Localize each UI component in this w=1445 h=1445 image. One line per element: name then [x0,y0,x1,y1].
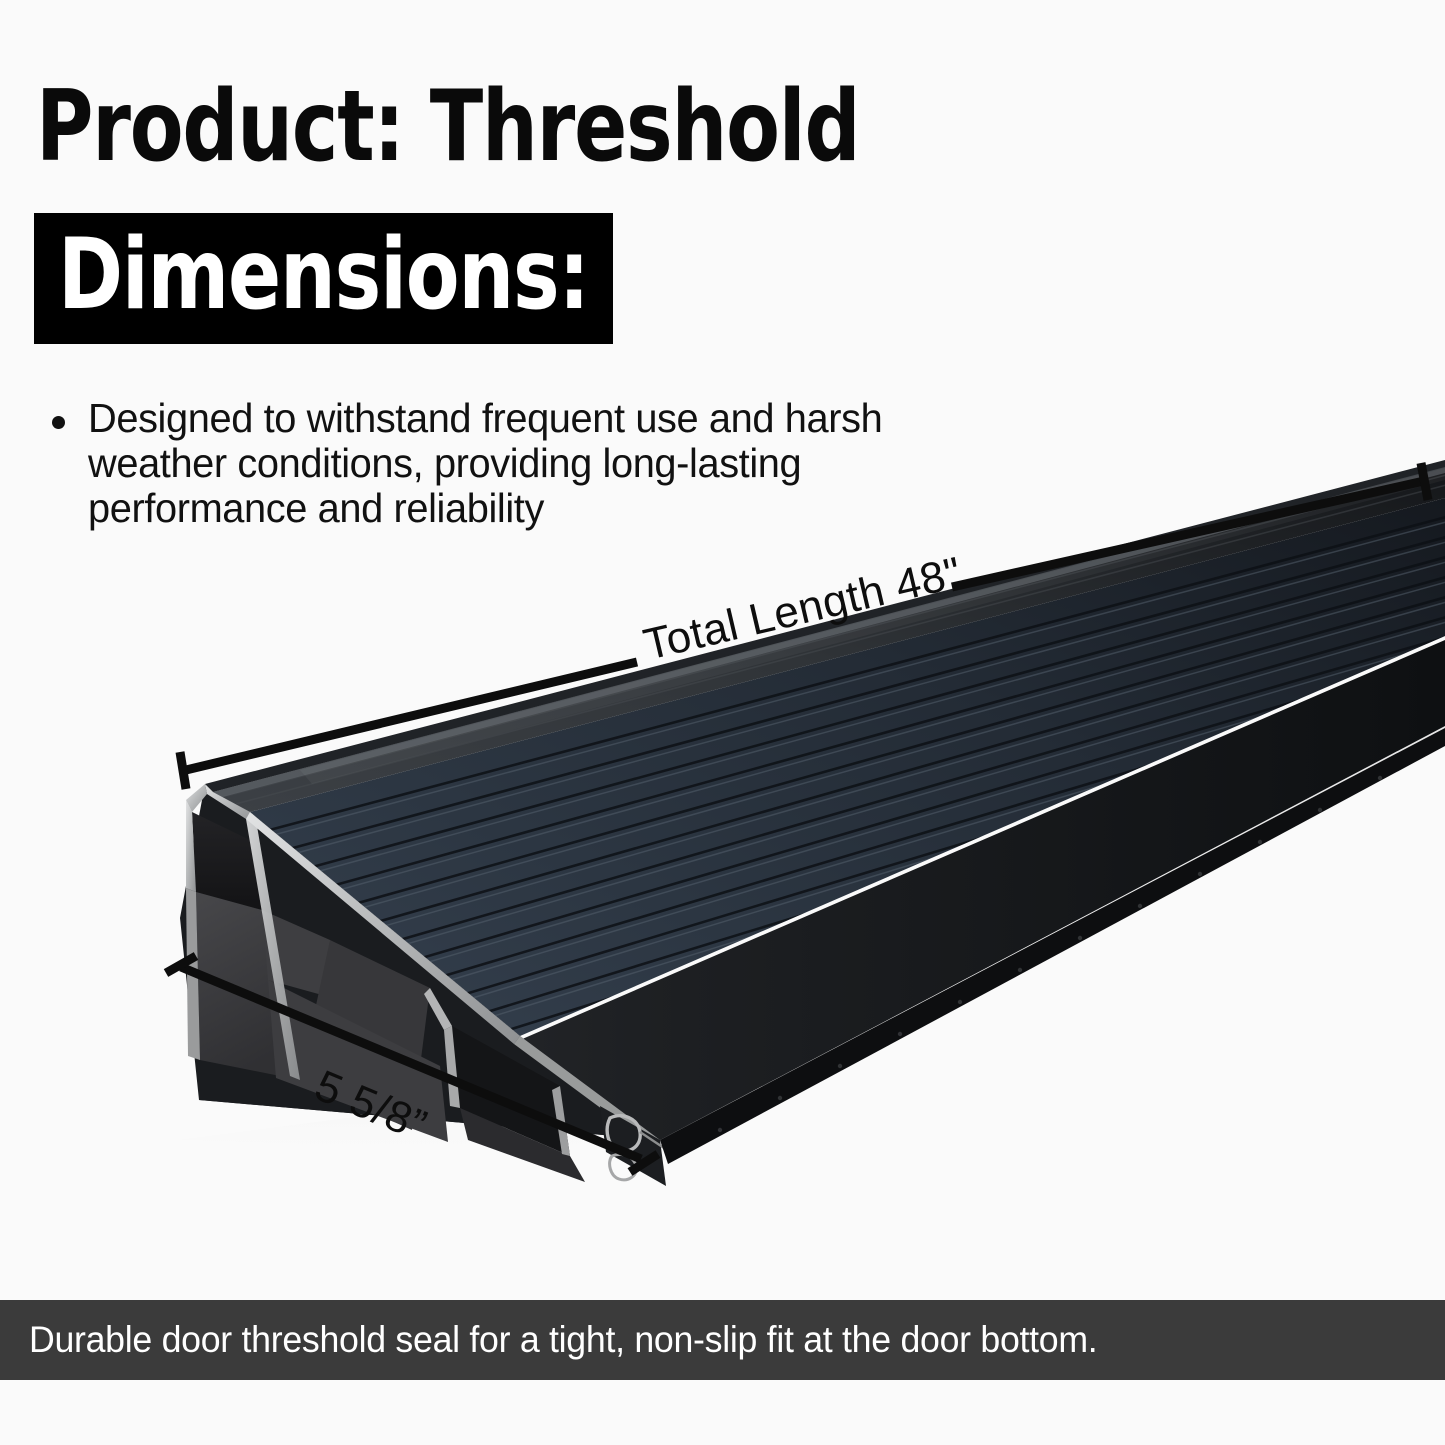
page-title-highlight-block: Dimensions: [34,213,613,344]
product-image [0,440,1445,1240]
page-title-line-2: Dimensions: [58,226,589,324]
threshold-extrusion [180,460,1445,1186]
infographic-page: Product: Threshold Dimensions: Designed … [0,0,1445,1445]
caption-text: Durable door threshold seal for a tight,… [0,1319,1097,1361]
page-title-line-1: Product: Threshold [36,78,859,176]
bullet-dot-icon [52,416,65,429]
caption-bar: Durable door threshold seal for a tight,… [0,1300,1445,1380]
